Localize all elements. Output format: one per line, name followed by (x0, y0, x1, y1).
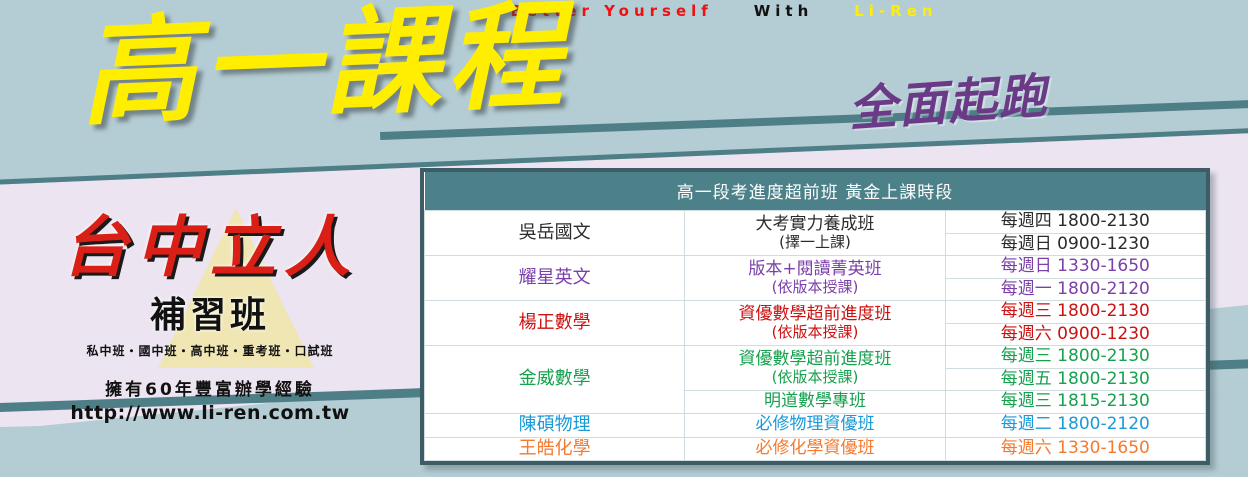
schedule-table-head: 高一段考進度超前班 黃金上課時段 (425, 172, 1206, 211)
schedule-time-cell: 每週六 1330-1650 (945, 437, 1205, 461)
page-title: 高一課程 (78, 0, 570, 136)
teacher-cell: 耀星英文 (425, 256, 685, 301)
course-cell: 大考實力養成班(擇一上課) (685, 211, 945, 256)
course-cell: 明道數學專班 (685, 391, 945, 414)
teacher-cell: 金威數學 (425, 346, 685, 414)
schedule-table: 高一段考進度超前班 黃金上課時段 吳岳國文大考實力養成班(擇一上課)每週四 18… (424, 172, 1206, 461)
teacher-cell: 吳岳國文 (425, 211, 685, 256)
course-cell: 資優數學超前進度班(依版本授課) (685, 346, 945, 391)
table-row: 金威數學資優數學超前進度班(依版本授課)每週三 1800-2130 (425, 346, 1206, 369)
teacher-cell: 楊正數學 (425, 301, 685, 346)
table-row: 耀星英文版本+閱讀菁英班(依版本授課)每週日 1330-1650 (425, 256, 1206, 279)
logo-class-tags: 私中班・國中班・高中班・重考班・口試班 (40, 342, 380, 359)
logo-name: 台中立人 (40, 214, 380, 280)
logo-website-url[interactable]: http://www.li-ren.com.tw (40, 402, 380, 424)
teacher-cell: 王皓化學 (425, 437, 685, 461)
table-row: 王皓化學必修化學資優班每週六 1330-1650 (425, 437, 1206, 461)
tagline-part-with: With (754, 2, 814, 20)
schedule-time-cell: 每週日 1330-1650 (945, 256, 1205, 279)
course-note: (擇一上課) (687, 234, 942, 251)
schedule-time-cell: 每週日 0900-1230 (945, 233, 1205, 256)
table-header-title: 高一段考進度超前班 黃金上課時段 (425, 172, 1206, 211)
course-name: 資優數學超前進度班 (738, 304, 891, 324)
course-note: (依版本授課) (687, 324, 942, 341)
schedule-time-cell: 每週三 1800-2130 (945, 346, 1205, 369)
schedule-time-cell: 每週三 1800-2130 (945, 301, 1205, 324)
logo-kind: 補習班 (40, 286, 380, 338)
course-cell: 版本+閱讀菁英班(依版本授課) (685, 256, 945, 301)
course-name: 版本+閱讀菁英班 (748, 259, 881, 279)
course-note: (依版本授課) (687, 369, 942, 386)
schedule-table-container: 高一段考進度超前班 黃金上課時段 吳岳國文大考實力養成班(擇一上課)每週四 18… (420, 168, 1210, 465)
schedule-time-cell: 每週三 1815-2130 (945, 391, 1205, 414)
schedule-time-cell: 每週四 1800-2130 (945, 211, 1205, 234)
course-note: (依版本授課) (687, 279, 942, 296)
table-header-row: 高一段考進度超前班 黃金上課時段 (425, 172, 1206, 211)
logo-experience: 擁有60年豐富辦學經驗 (40, 375, 380, 400)
schedule-time-cell: 每週六 0900-1230 (945, 323, 1205, 346)
course-cell: 必修化學資優班 (685, 437, 945, 461)
schedule-time-cell: 每週一 1800-2120 (945, 278, 1205, 301)
course-name: 必修物理資優班 (755, 414, 874, 434)
course-cell: 必修物理資優班 (685, 413, 945, 437)
table-row: 楊正數學資優數學超前進度班(依版本授課)每週三 1800-2130 (425, 301, 1206, 324)
poster-canvas: Better Yourself With Li-Ren 高一課程 全面起跑 台中… (0, 0, 1248, 477)
tagline-part-brand: Li-Ren (854, 2, 937, 20)
page-subtitle: 全面起跑 (846, 56, 1050, 140)
course-name: 資優數學超前進度班 (738, 349, 891, 369)
schedule-time-cell: 每週二 1800-2120 (945, 413, 1205, 437)
course-name: 大考實力養成班 (755, 214, 874, 234)
course-cell: 資優數學超前進度班(依版本授課) (685, 301, 945, 346)
course-name: 必修化學資優班 (755, 438, 874, 458)
course-name: 明道數學專班 (764, 391, 866, 411)
schedule-table-body: 吳岳國文大考實力養成班(擇一上課)每週四 1800-2130每週日 0900-1… (425, 211, 1206, 461)
schedule-time-cell: 每週五 1800-2130 (945, 368, 1205, 391)
table-row: 吳岳國文大考實力養成班(擇一上課)每週四 1800-2130 (425, 211, 1206, 234)
table-row: 陳碩物理必修物理資優班每週二 1800-2120 (425, 413, 1206, 437)
brand-logo: 台中立人 補習班 私中班・國中班・高中班・重考班・口試班 擁有60年豐富辦學經驗… (40, 214, 380, 424)
teacher-cell: 陳碩物理 (425, 413, 685, 437)
